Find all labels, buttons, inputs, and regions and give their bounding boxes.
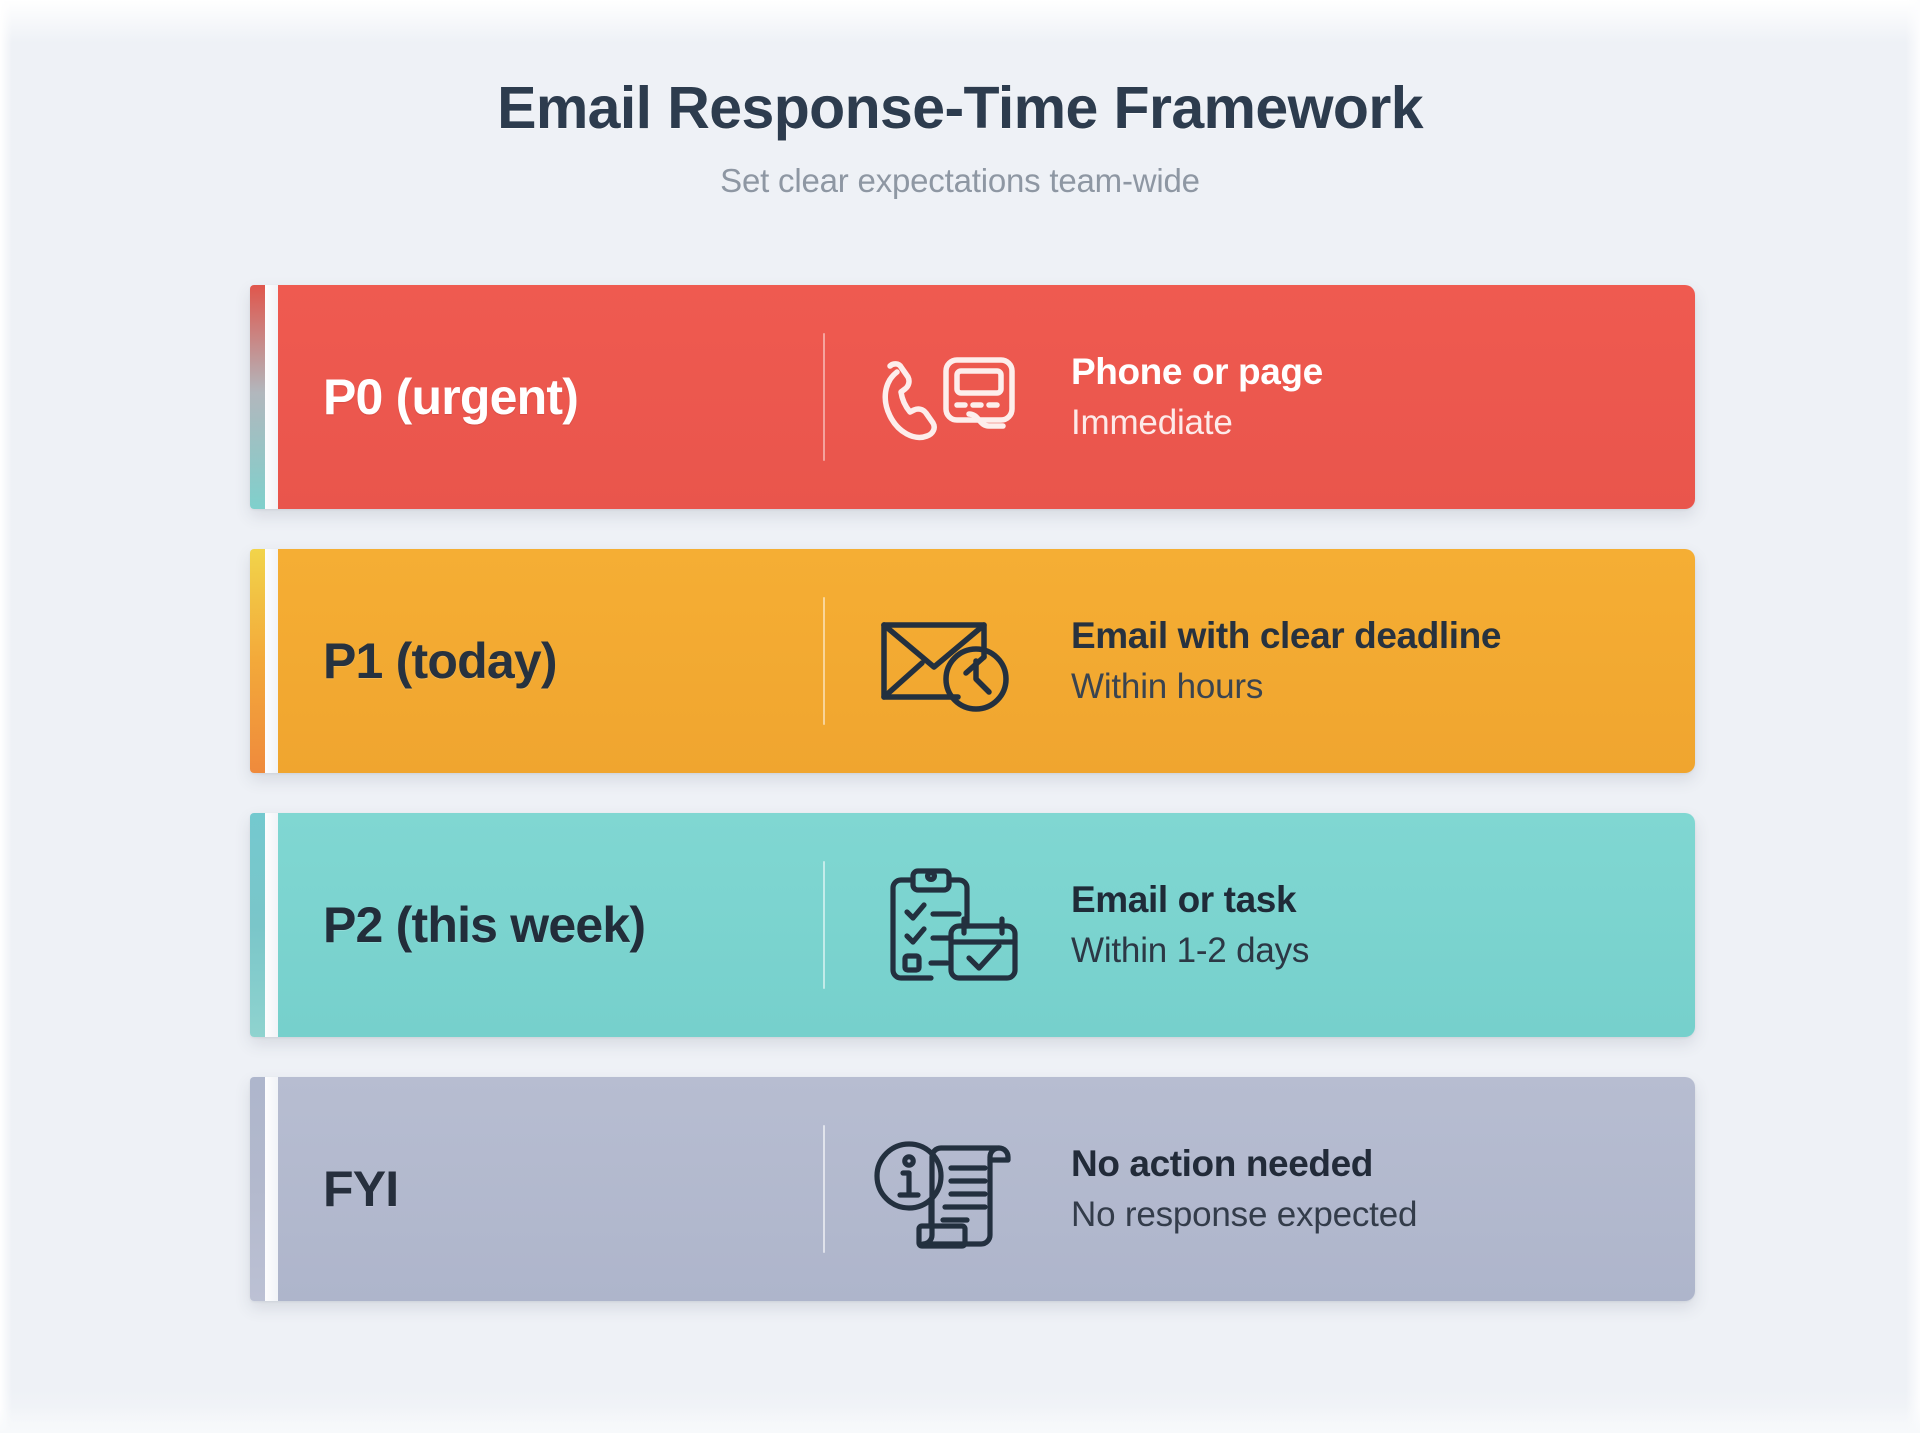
priority-row-p2[interactable]: P2 (this week) <box>250 813 1695 1037</box>
info-scroll-icon <box>825 1128 1065 1250</box>
page-subtitle: Set clear expectations team-wide <box>0 162 1920 200</box>
right-edge-highlight <box>1906 0 1920 1433</box>
accent-strip-fyi <box>250 1077 265 1301</box>
channel-label-p0: Phone or page <box>1071 350 1695 394</box>
accent-strip-p1 <box>250 549 265 773</box>
channel-label-fyi: No action needed <box>1071 1142 1695 1186</box>
timing-label-p0: Immediate <box>1071 402 1695 444</box>
bottom-edge-highlight <box>0 1407 1920 1433</box>
priority-row-body-p0: P0 (urgent) Phone or page Immediate <box>278 285 1695 509</box>
priority-row-p0[interactable]: P0 (urgent) Phone or page Immediate <box>250 285 1695 509</box>
priority-text-p0: Phone or page Immediate <box>1065 350 1695 445</box>
accent-gap-p0 <box>265 285 278 509</box>
accent-strip-p2 <box>250 813 265 1037</box>
priority-label-p0: P0 (urgent) <box>278 368 823 426</box>
accent-strip-p0 <box>250 285 265 509</box>
accent-gap-fyi <box>265 1077 278 1301</box>
accent-gap-p1 <box>265 549 278 773</box>
phone-pager-icon <box>825 342 1065 452</box>
timing-label-p2: Within 1-2 days <box>1071 930 1695 972</box>
page-title: Email Response-Time Framework <box>0 78 1920 140</box>
priority-text-p1: Email with clear deadline Within hours <box>1065 614 1695 709</box>
priority-label-p2: P2 (this week) <box>278 896 823 954</box>
priority-row-fyi[interactable]: FYI No action needed <box>250 1077 1695 1301</box>
priority-row-body-fyi: FYI No action needed <box>278 1077 1695 1301</box>
priority-row-body-p1: P1 (today) Email with clear deadline <box>278 549 1695 773</box>
priority-list: P0 (urgent) Phone or page Immediate <box>250 285 1695 1301</box>
channel-label-p1: Email with clear deadline <box>1071 614 1695 658</box>
infographic-canvas: Email Response-Time Framework Set clear … <box>0 0 1920 1433</box>
channel-label-p2: Email or task <box>1071 878 1695 922</box>
timing-label-fyi: No response expected <box>1071 1194 1695 1236</box>
priority-label-p1: P1 (today) <box>278 632 823 690</box>
envelope-clock-icon <box>825 605 1065 717</box>
priority-row-p1[interactable]: P1 (today) Email with clear deadline <box>250 549 1695 773</box>
left-edge-highlight <box>0 0 12 1433</box>
timing-label-p1: Within hours <box>1071 666 1695 708</box>
priority-label-fyi: FYI <box>278 1160 823 1218</box>
priority-text-p2: Email or task Within 1-2 days <box>1065 878 1695 973</box>
header: Email Response-Time Framework Set clear … <box>0 78 1920 200</box>
clipboard-calendar-icon <box>825 864 1065 986</box>
priority-row-body-p2: P2 (this week) <box>278 813 1695 1037</box>
accent-gap-p2 <box>265 813 278 1037</box>
priority-text-fyi: No action needed No response expected <box>1065 1142 1695 1237</box>
